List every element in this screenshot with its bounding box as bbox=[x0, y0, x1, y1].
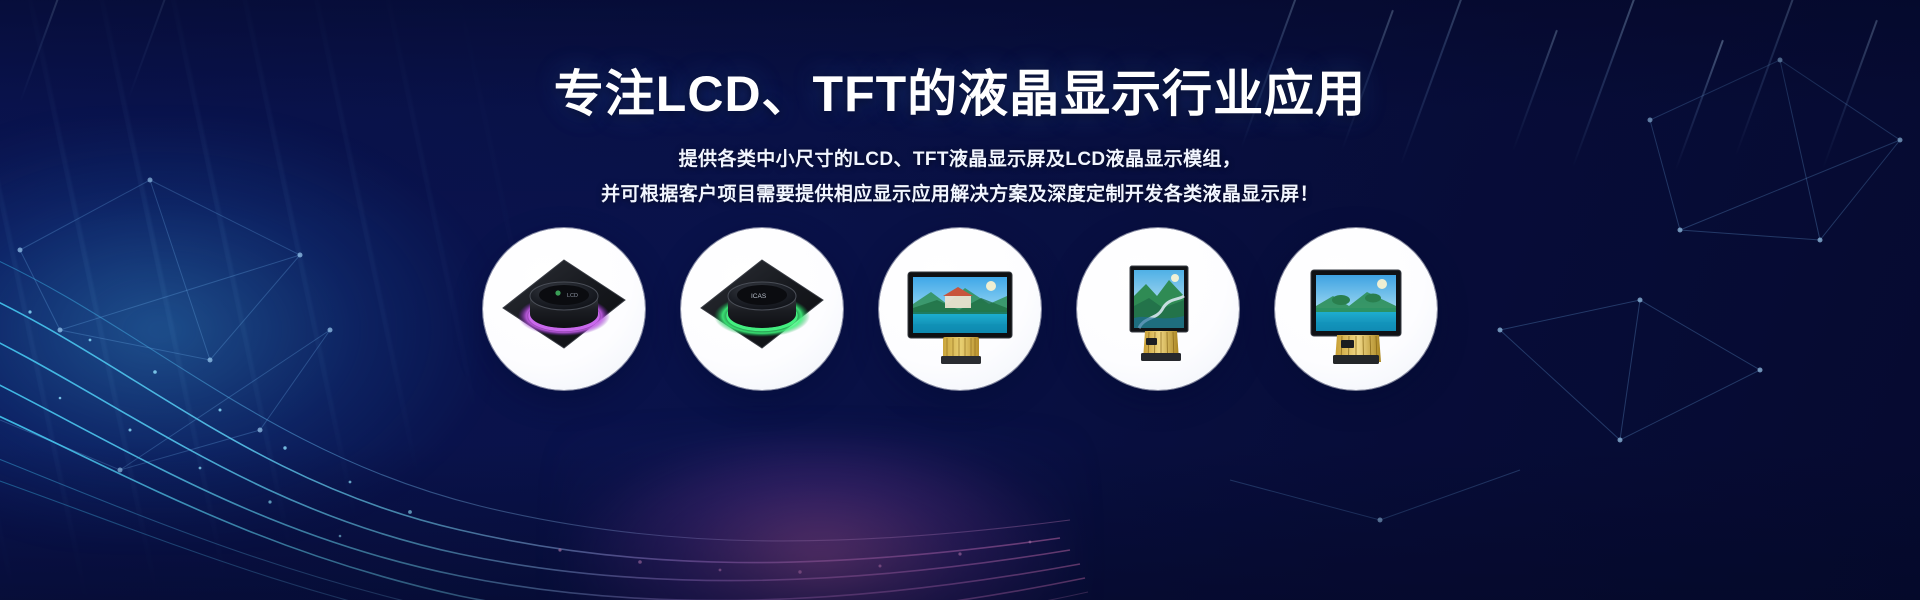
tft-module-fpc-icon bbox=[1083, 234, 1233, 384]
banner-subline-1: 提供各类中小尺寸的LCD、TFT液晶显示屏及LCD液晶显示模组， bbox=[0, 122, 1920, 177]
banner-subline-2: 并可根据客户项目需要提供相应显示应用解决方案及深度定制开发各类液晶显示屏！ bbox=[0, 177, 1920, 212]
hero-banner: 专注LCD、TFT的液晶显示行业应用 提供各类中小尺寸的LCD、TFT液晶显示屏… bbox=[0, 0, 1920, 600]
product-circle-round-smart-display-purple[interactable]: 圆形智能显示模组（紫光） bbox=[483, 228, 645, 390]
svg-text:LCD: LCD bbox=[567, 293, 578, 299]
tft-panel-landscape-icon bbox=[885, 234, 1035, 384]
round-device-purple-icon: LCD bbox=[489, 234, 639, 384]
banner-content: 专注LCD、TFT的液晶显示行业应用 提供各类中小尺寸的LCD、TFT液晶显示屏… bbox=[0, 0, 1920, 600]
product-circle-tft-lcd-panel-landscape[interactable]: TFT液晶显示屏（横屏） bbox=[879, 228, 1041, 390]
product-circle-tft-lcd-display-module[interactable]: TFT液晶显示模块 bbox=[1275, 228, 1437, 390]
product-circle-tft-lcd-module-fpc[interactable]: TFT液晶显示模组（软排线） bbox=[1077, 228, 1239, 390]
round-device-green-icon: ICAS bbox=[687, 234, 837, 384]
banner-headline: 专注LCD、TFT的液晶显示行业应用 bbox=[0, 0, 1920, 122]
device-badge-text: ICAS bbox=[751, 293, 767, 300]
tft-display-module-icon bbox=[1281, 234, 1431, 384]
product-circle-round-smart-display-green[interactable]: 圆形智能显示模组（绿光） bbox=[681, 228, 843, 390]
product-circle-row: 圆形智能显示模组（紫光） bbox=[0, 228, 1920, 390]
